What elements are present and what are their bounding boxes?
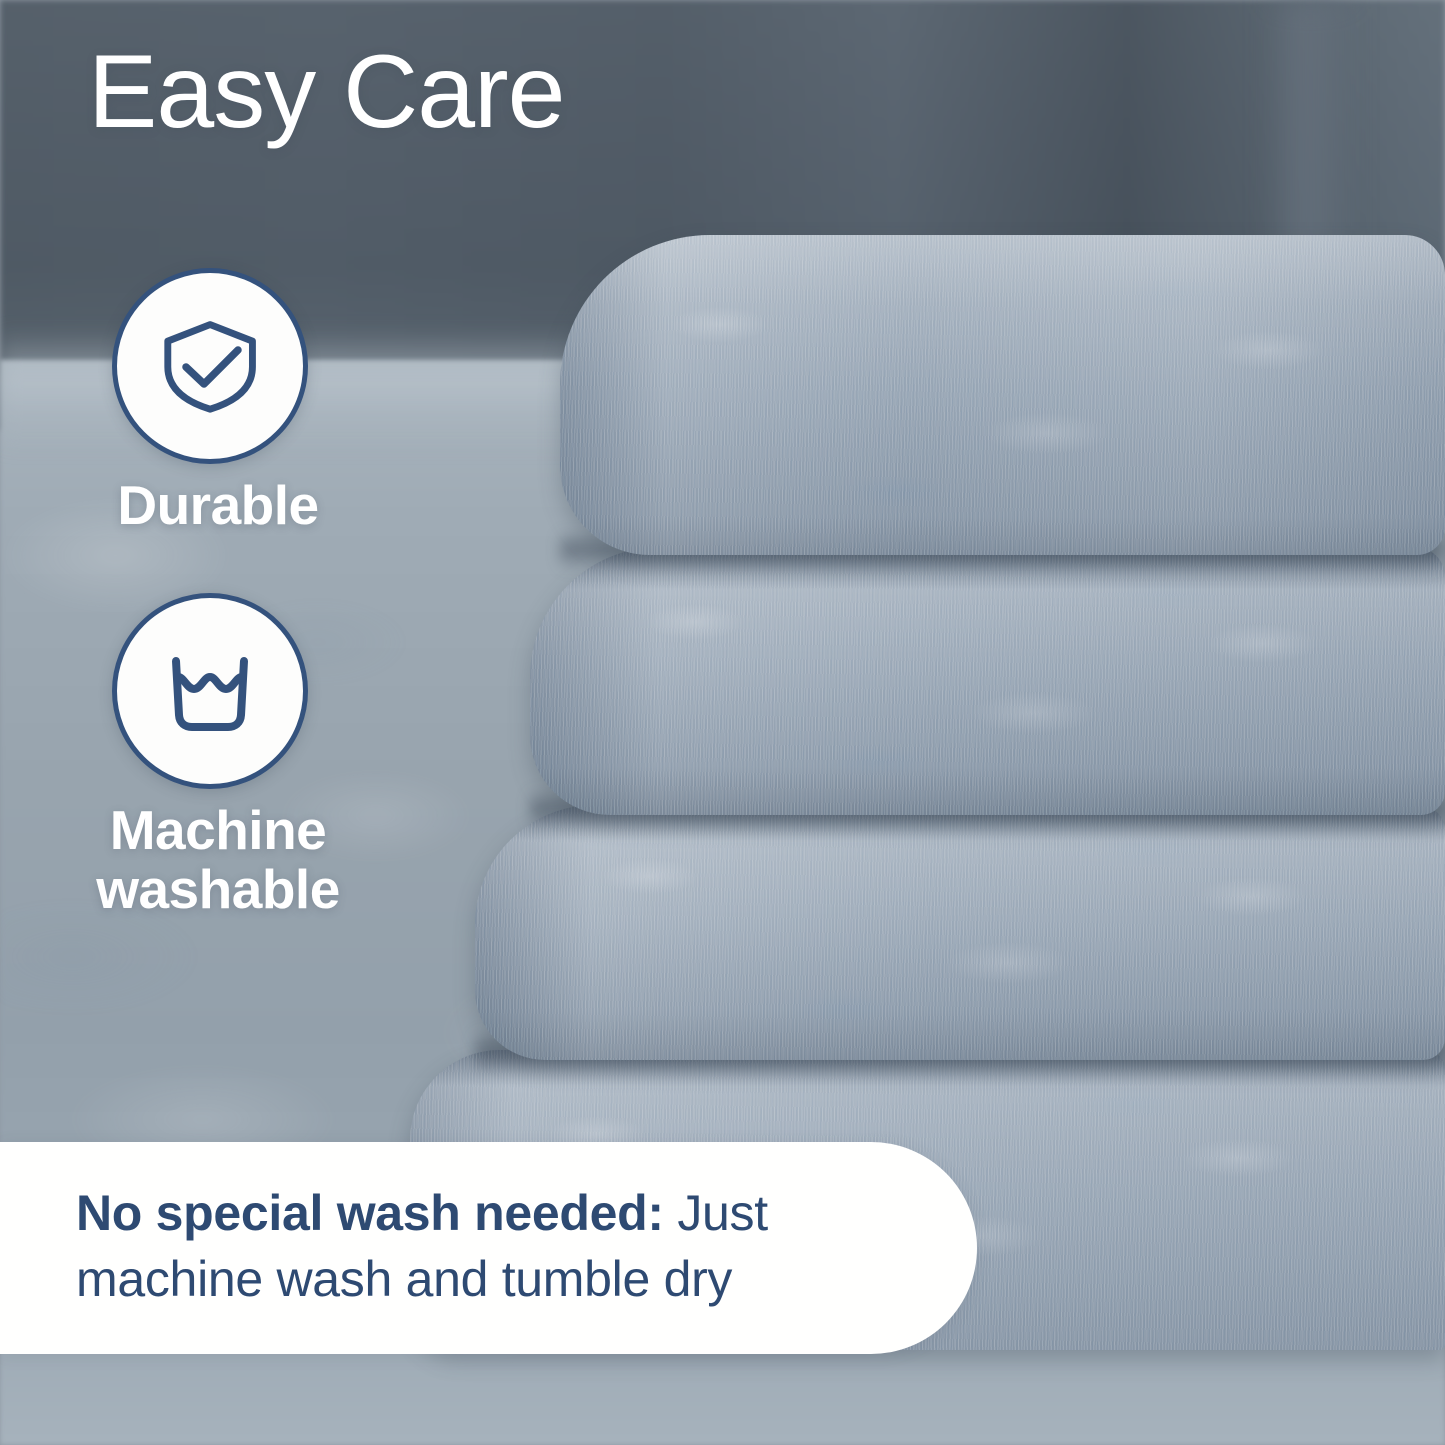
feature-label-line-2: washable <box>96 858 340 920</box>
fabric-texture <box>475 805 1445 1060</box>
fold-second <box>530 547 1445 815</box>
fabric-texture <box>560 235 1445 555</box>
machine-wash-tub-icon <box>112 593 308 789</box>
folded-sheet-stack <box>380 195 1445 1155</box>
caption-lead: No special wash needed: <box>76 1185 664 1241</box>
feature-label-line-1: Machine <box>110 799 327 861</box>
fold-third <box>475 805 1445 1060</box>
product-feature-card: Easy Care Durable Machine washable No sp… <box>0 0 1445 1445</box>
caption-text: No special wash needed: Just machine was… <box>76 1180 906 1312</box>
shield-check-icon <box>112 268 308 464</box>
fold-top <box>560 235 1445 555</box>
page-title: Easy Care <box>88 38 565 147</box>
fabric-texture <box>530 547 1445 815</box>
feature-label-durable: Durable <box>0 476 436 535</box>
caption-banner: No special wash needed: Just machine was… <box>0 1142 977 1354</box>
feature-label-machine-washable: Machine washable <box>0 801 436 920</box>
